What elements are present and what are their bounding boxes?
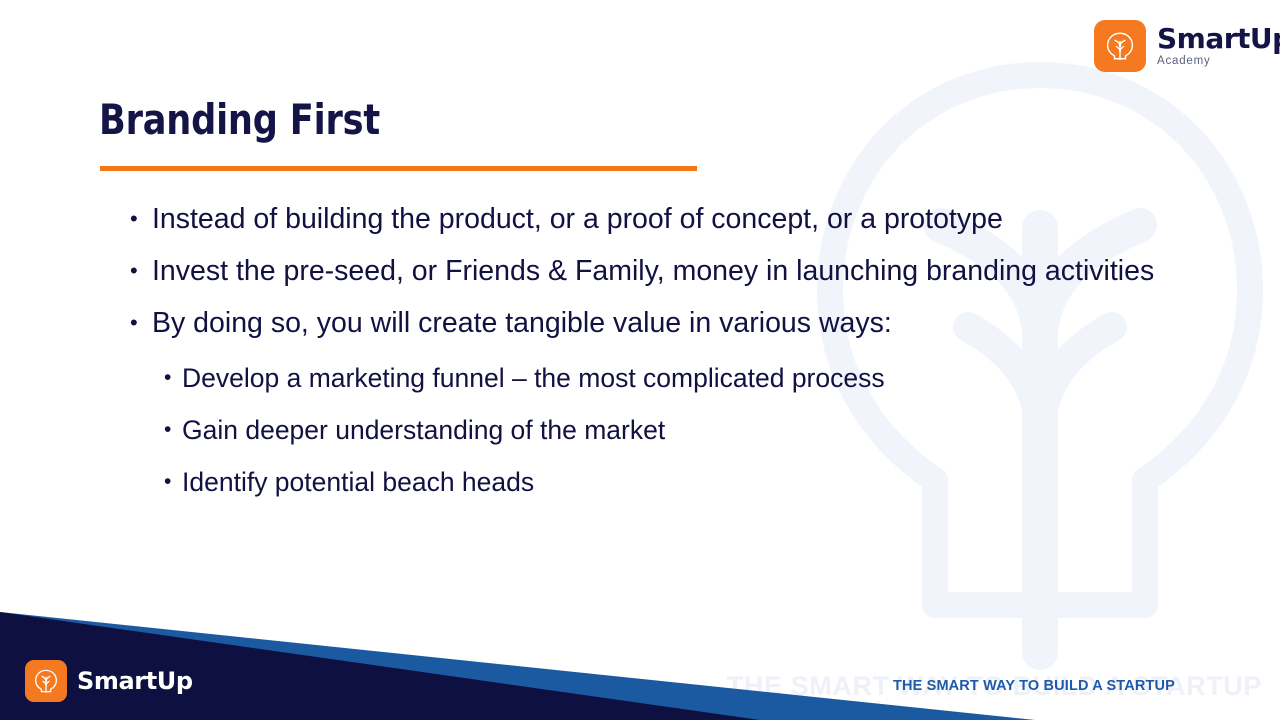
sub-list-item-label: Gain deeper understanding of the market [182, 404, 1240, 456]
page-title: Branding First [99, 95, 380, 144]
list-item: • Instead of building the product, or a … [120, 196, 1240, 242]
list-item: • Invest the pre-seed, or Friends & Fami… [120, 248, 1240, 294]
bullet-marker-icon: • [152, 404, 182, 456]
footer-logo: SmartUp [25, 660, 193, 702]
footer-logo-wordmark: SmartUp [77, 667, 193, 695]
sub-list-item-label: Develop a marketing funnel – the most co… [182, 352, 1240, 404]
sub-list-item: • Gain deeper understanding of the marke… [152, 404, 1240, 456]
sub-list-item: • Develop a marketing funnel – the most … [152, 352, 1240, 404]
bullet-marker-icon: • [152, 456, 182, 508]
smartup-tree-bulb-icon [1094, 20, 1146, 72]
bullet-list: • Instead of building the product, or a … [120, 196, 1240, 508]
bullet-marker-icon: • [120, 300, 152, 346]
header-logo-wordmark: SmartUp [1157, 25, 1280, 53]
list-item-label: Instead of building the product, or a pr… [152, 196, 1240, 242]
bullet-marker-icon: • [120, 248, 152, 294]
list-item: • By doing so, you will create tangible … [120, 300, 1240, 346]
sub-list-item-label: Identify potential beach heads [182, 456, 1240, 508]
bullet-marker-icon: • [120, 196, 152, 242]
footer-tagline: THE SMART WAY TO BUILD A STARTUP [893, 678, 1175, 694]
title-underline-rule [100, 166, 697, 171]
list-item-label: Invest the pre-seed, or Friends & Family… [152, 248, 1240, 294]
bullet-marker-icon: • [152, 352, 182, 404]
header-logo: SmartUp Academy [1094, 20, 1280, 72]
slide: SmartUp Academy Branding First • Instead… [0, 0, 1280, 720]
smartup-tree-bulb-icon [25, 660, 67, 702]
sub-list-item: • Identify potential beach heads [152, 456, 1240, 508]
list-item-label: By doing so, you will create tangible va… [152, 300, 1240, 346]
header-logo-subtitle: Academy [1157, 56, 1280, 68]
